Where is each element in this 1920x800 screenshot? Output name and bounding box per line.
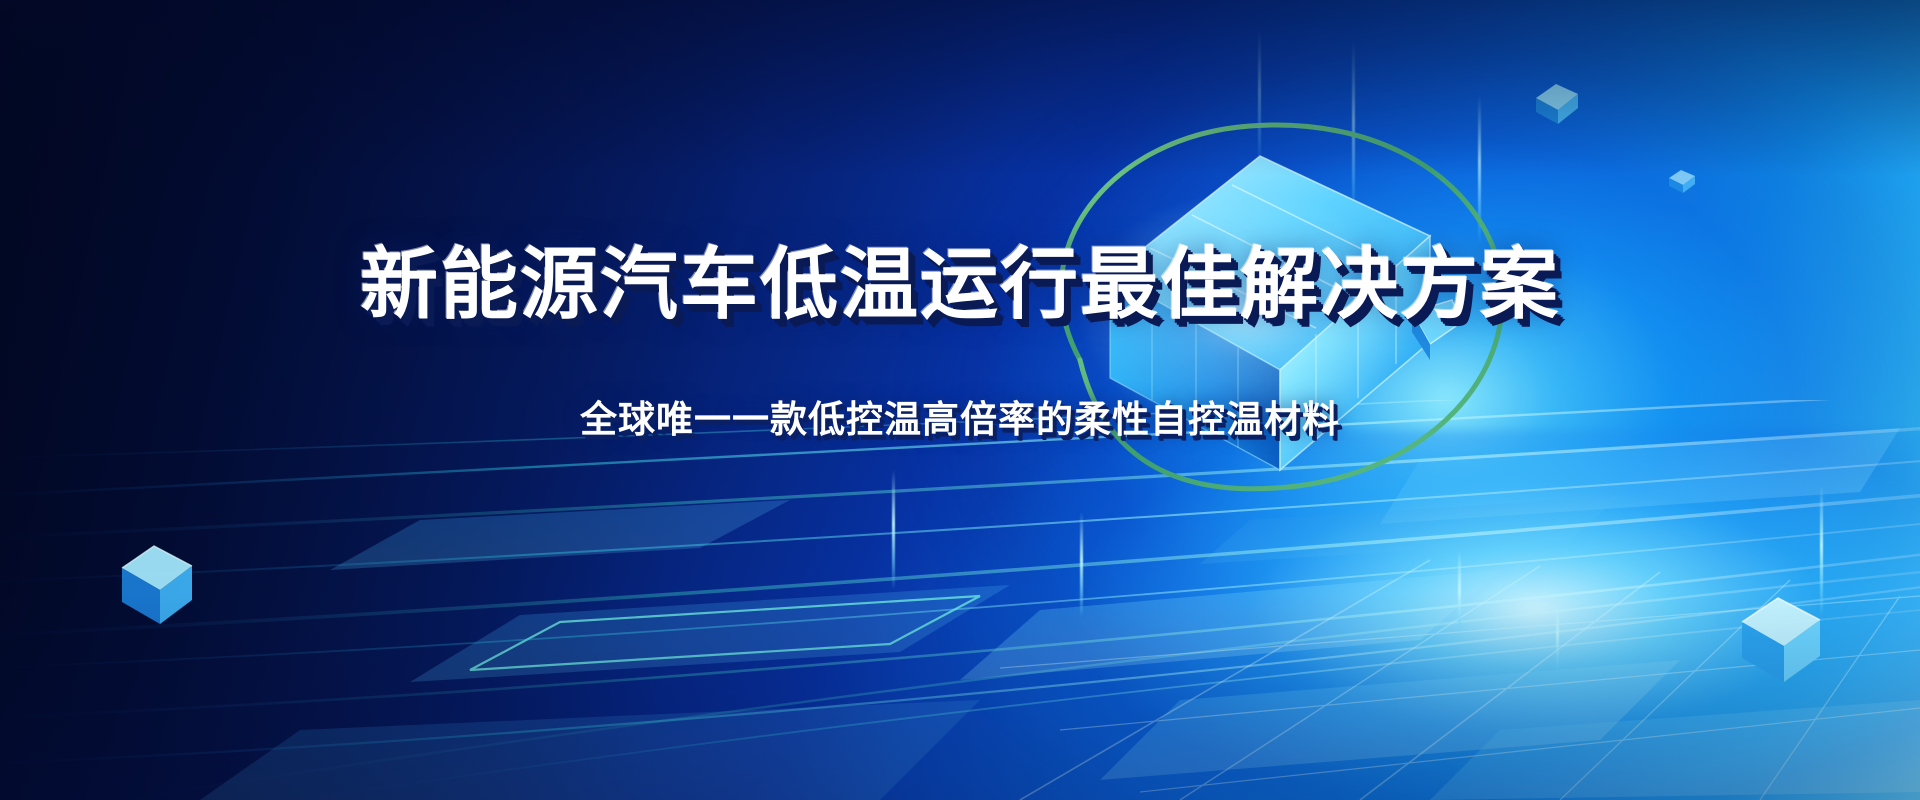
hero-banner: 新能源汽车低温运行最佳解决方案 全球唯一一款低控温高倍率的柔性自控温材料 [0, 0, 1920, 800]
banner-subtitle: 全球唯一一款低控温高倍率的柔性自控温材料 [580, 401, 1340, 438]
banner-title: 新能源汽车低温运行最佳解决方案 [360, 245, 1560, 323]
